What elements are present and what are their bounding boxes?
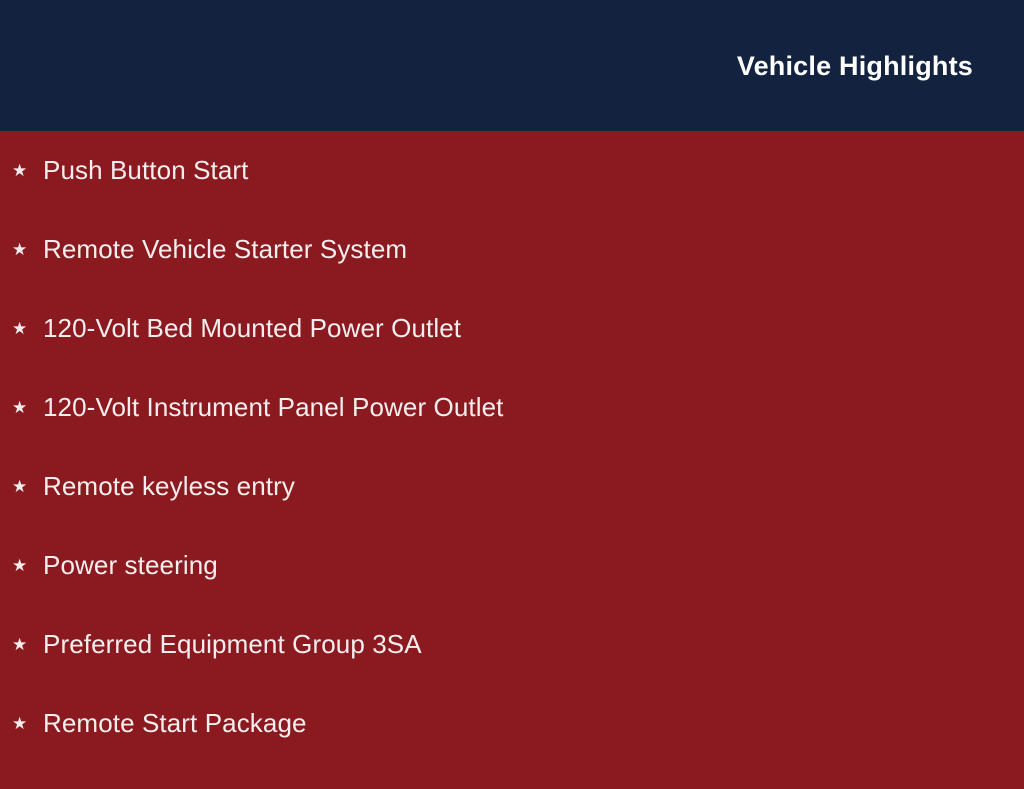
star-icon: ★ <box>12 557 29 574</box>
vehicle-highlights-slide: Vehicle Highlights ★ Push Button Start ★… <box>0 0 1024 768</box>
list-item: ★ Push Button Start <box>0 131 1024 236</box>
page-title: Vehicle Highlights <box>737 53 973 80</box>
header-bar: Vehicle Highlights <box>0 0 1024 131</box>
list-item-label: 120-Volt Bed Mounted Power Outlet <box>29 315 461 341</box>
star-icon: ★ <box>12 478 29 495</box>
vehicle-highlights-list: ★ Push Button Start ★ Remote Vehicle Sta… <box>0 131 1024 789</box>
list-item: ★ Power steering <box>0 552 1024 631</box>
list-item-label: Power steering <box>29 552 218 578</box>
star-icon: ★ <box>12 715 29 732</box>
list-item-label: Remote Start Package <box>29 710 307 736</box>
list-item: ★ Remote keyless entry <box>0 473 1024 552</box>
list-item: ★ 120-Volt Bed Mounted Power Outlet <box>0 315 1024 394</box>
list-item-label: Remote keyless entry <box>29 473 295 499</box>
list-item-label: Remote Vehicle Starter System <box>29 236 407 262</box>
list-item: ★ Remote Vehicle Starter System <box>0 236 1024 315</box>
list-item: ★ 120-Volt Instrument Panel Power Outlet <box>0 394 1024 473</box>
list-item-label: Push Button Start <box>29 157 249 183</box>
highlights-body: ★ Push Button Start ★ Remote Vehicle Sta… <box>0 131 1024 768</box>
list-item-label: Preferred Equipment Group 3SA <box>29 631 422 657</box>
list-item: ★ Remote Start Package <box>0 710 1024 789</box>
list-item: ★ Preferred Equipment Group 3SA <box>0 631 1024 710</box>
star-icon: ★ <box>12 162 29 179</box>
list-item-label: 120-Volt Instrument Panel Power Outlet <box>29 394 504 420</box>
star-icon: ★ <box>12 399 29 416</box>
star-icon: ★ <box>12 636 29 653</box>
star-icon: ★ <box>12 241 29 258</box>
star-icon: ★ <box>12 320 29 337</box>
